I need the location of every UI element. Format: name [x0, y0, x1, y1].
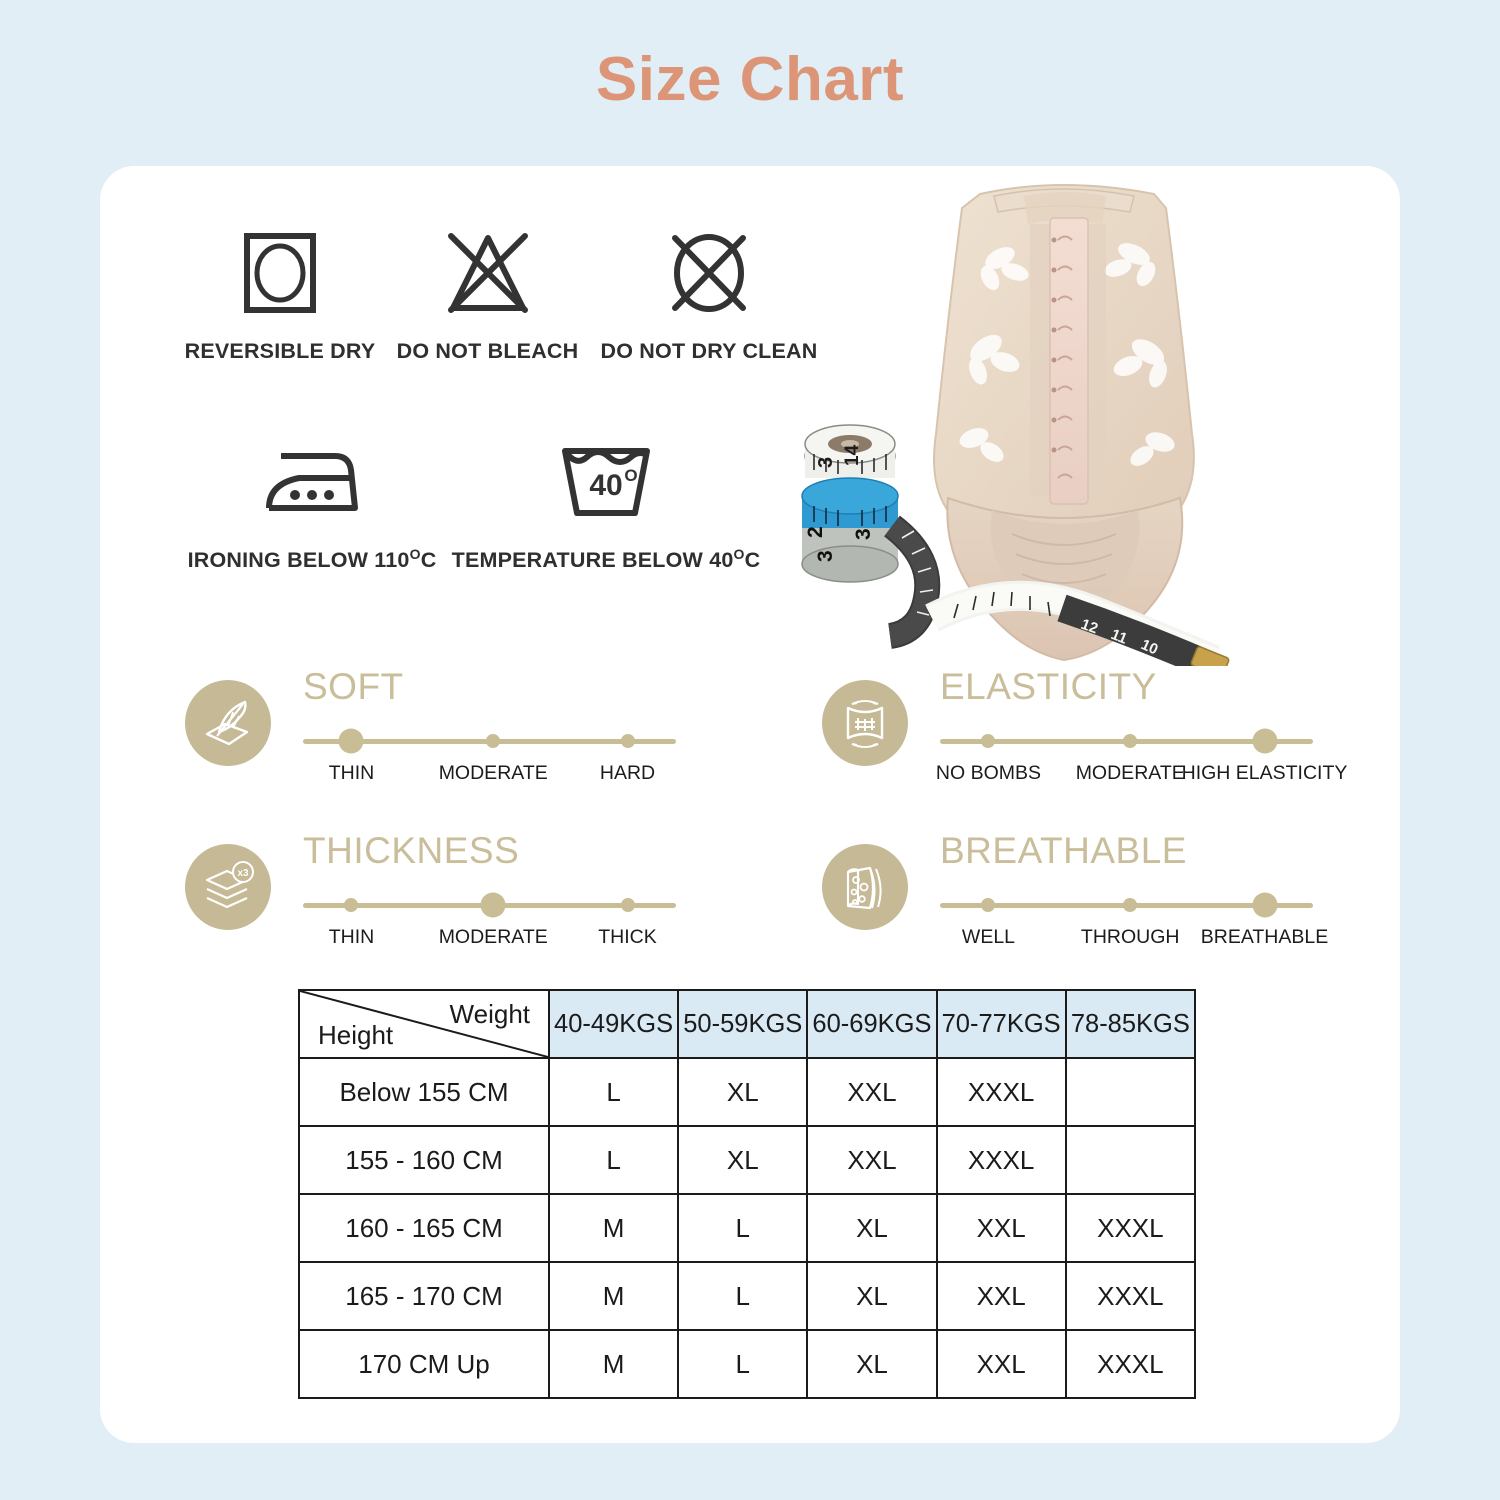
- page-title: Size Chart: [0, 44, 1500, 115]
- svg-text:14: 14: [842, 444, 863, 466]
- svg-text:O: O: [624, 466, 637, 485]
- size-cell: XXXL: [937, 1058, 1066, 1126]
- size-cell: XL: [678, 1058, 807, 1126]
- size-cell: L: [678, 1262, 807, 1330]
- size-cell: XL: [807, 1262, 936, 1330]
- slider-label: THICK: [598, 926, 657, 949]
- table-row: Below 155 CM L XL XXL XXXL: [299, 1058, 1195, 1126]
- height-axis-label: Height: [318, 1020, 393, 1051]
- do-not-bleach-icon: [380, 221, 595, 325]
- slider-label: THIN: [329, 926, 375, 949]
- slider-dot-0[interactable]: [339, 729, 364, 754]
- slider-label: MODERATE: [439, 762, 548, 785]
- table-row: 165 - 170 CM M L XL XXL XXXL: [299, 1262, 1195, 1330]
- size-cell: XXL: [807, 1058, 936, 1126]
- height-cell: 160 - 165 CM: [299, 1194, 549, 1262]
- care-item-do-not-bleach: DO NOT BLEACH: [380, 221, 595, 364]
- size-cell: M: [549, 1262, 678, 1330]
- svg-text:40: 40: [589, 469, 622, 502]
- height-cell: 170 CM Up: [299, 1330, 549, 1398]
- size-cell: XXL: [807, 1126, 936, 1194]
- feather-quill-icon: [185, 680, 271, 766]
- product-photo: 3 14 2 3 3: [762, 166, 1362, 666]
- soft-slider[interactable]: [303, 728, 676, 754]
- slider-dot-0[interactable]: [344, 898, 358, 912]
- property-soft: SOFT THIN MODERATE HARD: [185, 666, 685, 816]
- slider-label: WELL: [962, 926, 1015, 949]
- care-label: TEMPERATURE BELOW 40OC: [436, 546, 776, 573]
- height-cell: 155 - 160 CM: [299, 1126, 549, 1194]
- slider-dot-2[interactable]: [621, 734, 635, 748]
- svg-text:3: 3: [814, 550, 837, 562]
- table-row: 160 - 165 CM M L XL XXL XXXL: [299, 1194, 1195, 1262]
- slider-dot-1[interactable]: [481, 893, 506, 918]
- care-item-ironing: IRONING BELOW 110OC: [162, 428, 462, 573]
- size-cell: XL: [807, 1330, 936, 1398]
- slider-dot-2[interactable]: [621, 898, 635, 912]
- thickness-slider[interactable]: [303, 892, 676, 918]
- slider-dot-1[interactable]: [1123, 898, 1137, 912]
- slider-label: HIGH ELASTICITY: [1182, 762, 1348, 785]
- size-cell: XL: [678, 1126, 807, 1194]
- slider-label: HARD: [600, 762, 655, 785]
- table-row: 155 - 160 CM L XL XXL XXXL: [299, 1126, 1195, 1194]
- elasticity-slider[interactable]: [940, 728, 1313, 754]
- size-cell: XXXL: [937, 1126, 1066, 1194]
- slider-label: MODERATE: [439, 926, 548, 949]
- slider-label: NO BOMBS: [936, 762, 1041, 785]
- size-cell: L: [549, 1126, 678, 1194]
- table-corner-cell: Weight Height: [299, 990, 549, 1058]
- weight-column-header: 70-77KGS: [937, 990, 1066, 1058]
- slider-label: BREATHABLE: [1201, 926, 1329, 949]
- slider-dot-1[interactable]: [1123, 734, 1137, 748]
- size-cell: XXL: [937, 1330, 1066, 1398]
- size-cell: XXXL: [1066, 1330, 1195, 1398]
- size-cell: XXL: [937, 1262, 1066, 1330]
- care-label: IRONING BELOW 110OC: [162, 546, 462, 573]
- slider-dot-2[interactable]: [1252, 729, 1277, 754]
- slider-label: MODERATE: [1076, 762, 1185, 785]
- slider-dot-2[interactable]: [1252, 893, 1277, 918]
- thickness-slider-labels: THIN MODERATE THICK: [303, 926, 676, 952]
- size-cell: M: [549, 1330, 678, 1398]
- height-cell: 165 - 170 CM: [299, 1262, 549, 1330]
- size-cell: L: [678, 1330, 807, 1398]
- slider-dot-0[interactable]: [981, 898, 995, 912]
- size-cell: XXL: [937, 1194, 1066, 1262]
- size-cell: L: [678, 1194, 807, 1262]
- size-cell: [1066, 1126, 1195, 1194]
- size-cell: M: [549, 1194, 678, 1262]
- property-title: ELASTICITY: [940, 666, 1157, 708]
- stretch-fabric-icon: [822, 680, 908, 766]
- svg-text:3: 3: [852, 528, 875, 540]
- property-title: THICKNESS: [303, 830, 519, 872]
- slider-label: THIN: [329, 762, 375, 785]
- svg-text:2: 2: [804, 526, 827, 538]
- property-breathable: BREATHABLE WELL THROUGH BREATHABLE: [822, 830, 1322, 980]
- slider-dot-0[interactable]: [981, 734, 995, 748]
- size-cell: XXXL: [1066, 1194, 1195, 1262]
- weight-column-header: 60-69KGS: [807, 990, 936, 1058]
- breathable-slider-labels: WELL THROUGH BREATHABLE: [940, 926, 1313, 952]
- care-label: REVERSIBLE DRY: [175, 339, 385, 364]
- table-row: 170 CM Up M L XL XXL XXXL: [299, 1330, 1195, 1398]
- height-cell: Below 155 CM: [299, 1058, 549, 1126]
- weight-column-header: 50-59KGS: [678, 990, 807, 1058]
- svg-text:3: 3: [815, 457, 837, 468]
- tumble-dry-icon: [175, 221, 385, 325]
- size-cell: [1066, 1058, 1195, 1126]
- property-title: BREATHABLE: [940, 830, 1187, 872]
- slider-dot-1[interactable]: [486, 734, 500, 748]
- breathable-slider[interactable]: [940, 892, 1313, 918]
- size-table: Weight Height 40-49KGS 50-59KGS 60-69KGS…: [298, 989, 1196, 1399]
- svg-text:x3: x3: [237, 868, 249, 879]
- property-thickness: x3 THICKNESS THIN MODERATE THICK: [185, 830, 685, 980]
- care-label: DO NOT BLEACH: [380, 339, 595, 364]
- breathable-fabric-icon: [822, 844, 908, 930]
- property-title: SOFT: [303, 666, 404, 708]
- layers-x3-icon: x3: [185, 844, 271, 930]
- elasticity-slider-labels: NO BOMBS MODERATE HIGH ELASTICITY: [940, 762, 1313, 788]
- slider-label: THROUGH: [1081, 926, 1180, 949]
- soft-slider-labels: THIN MODERATE HARD: [303, 762, 676, 788]
- table-header-row: Weight Height 40-49KGS 50-59KGS 60-69KGS…: [299, 990, 1195, 1058]
- size-cell: XXXL: [1066, 1262, 1195, 1330]
- care-item-wash-temperature: 40 O TEMPERATURE BELOW 40OC: [436, 428, 776, 573]
- wash-tub-40-icon: 40 O: [436, 428, 776, 532]
- size-cell: L: [549, 1058, 678, 1126]
- weight-column-header: 78-85KGS: [1066, 990, 1195, 1058]
- weight-column-header: 40-49KGS: [549, 990, 678, 1058]
- property-elasticity: ELASTICITY NO BOMBS MODERATE HIGH ELASTI…: [822, 666, 1322, 816]
- care-item-reversible-dry: REVERSIBLE DRY: [175, 221, 385, 364]
- size-cell: XL: [807, 1194, 936, 1262]
- iron-low-heat-icon: [162, 428, 462, 532]
- weight-axis-label: Weight: [450, 999, 530, 1030]
